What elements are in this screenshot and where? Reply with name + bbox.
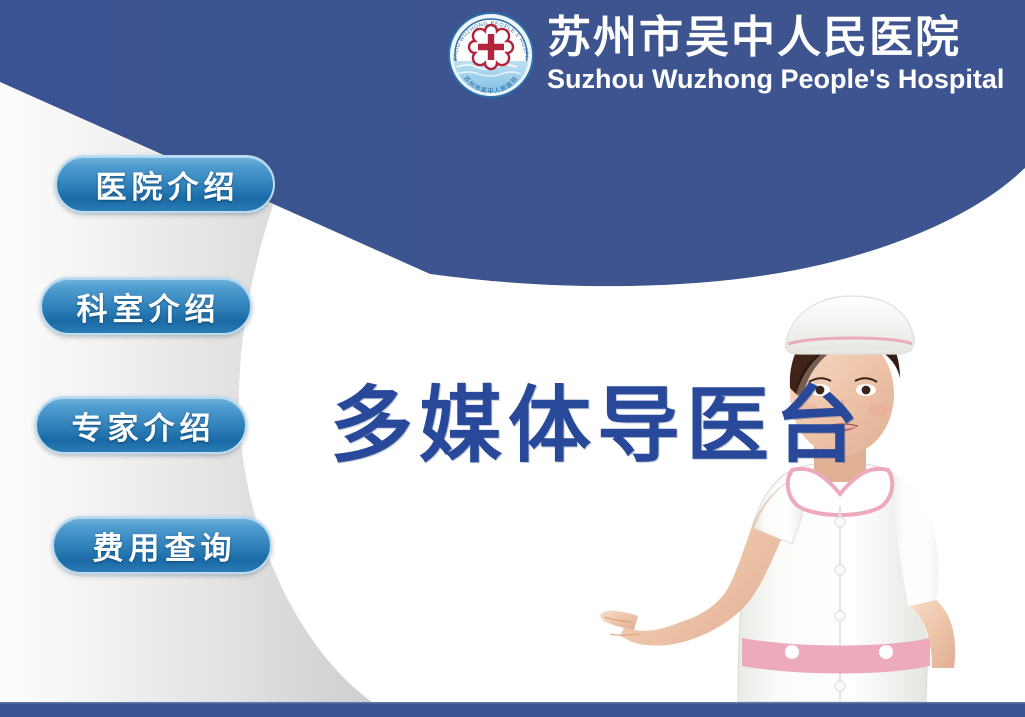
sidebar-item-fee-inquiry[interactable]: 费用查询	[52, 516, 272, 574]
hospital-name-cn: 苏州市吴中人民医院	[547, 13, 1004, 63]
hospital-name-en: Suzhou Wuzhong People's Hospital	[547, 63, 1004, 96]
sidebar-item-department-intro[interactable]: 科室介绍	[40, 277, 252, 335]
nurse-photo	[596, 282, 1025, 702]
hospital-emblem-icon: SUZHOU WUZHONG PEOPLE'S HOSPITAL 苏州市吴中人民…	[445, 9, 537, 101]
sidebar-item-specialist-intro[interactable]: 专家介绍	[35, 396, 247, 454]
sidebar-item-label: 科室介绍	[72, 284, 221, 329]
sidebar-item-label: 医院介绍	[91, 162, 240, 207]
sidebar-item-label: 专家介绍	[67, 403, 216, 448]
sidebar-nav: 医院介绍 科室介绍 专家介绍 费用查询	[0, 0, 320, 717]
header: SUZHOU WUZHONG PEOPLE'S HOSPITAL 苏州市吴中人民…	[445, 2, 1025, 107]
sidebar-item-label: 费用查询	[88, 523, 237, 568]
sidebar-item-hospital-intro[interactable]: 医院介绍	[55, 155, 275, 213]
kiosk-screen: SUZHOU WUZHONG PEOPLE'S HOSPITAL 苏州市吴中人民…	[0, 0, 1025, 717]
page-title: 多媒体导医台	[330, 358, 864, 478]
hospital-name-block: 苏州市吴中人民医院 Suzhou Wuzhong People's Hospit…	[547, 13, 1004, 96]
